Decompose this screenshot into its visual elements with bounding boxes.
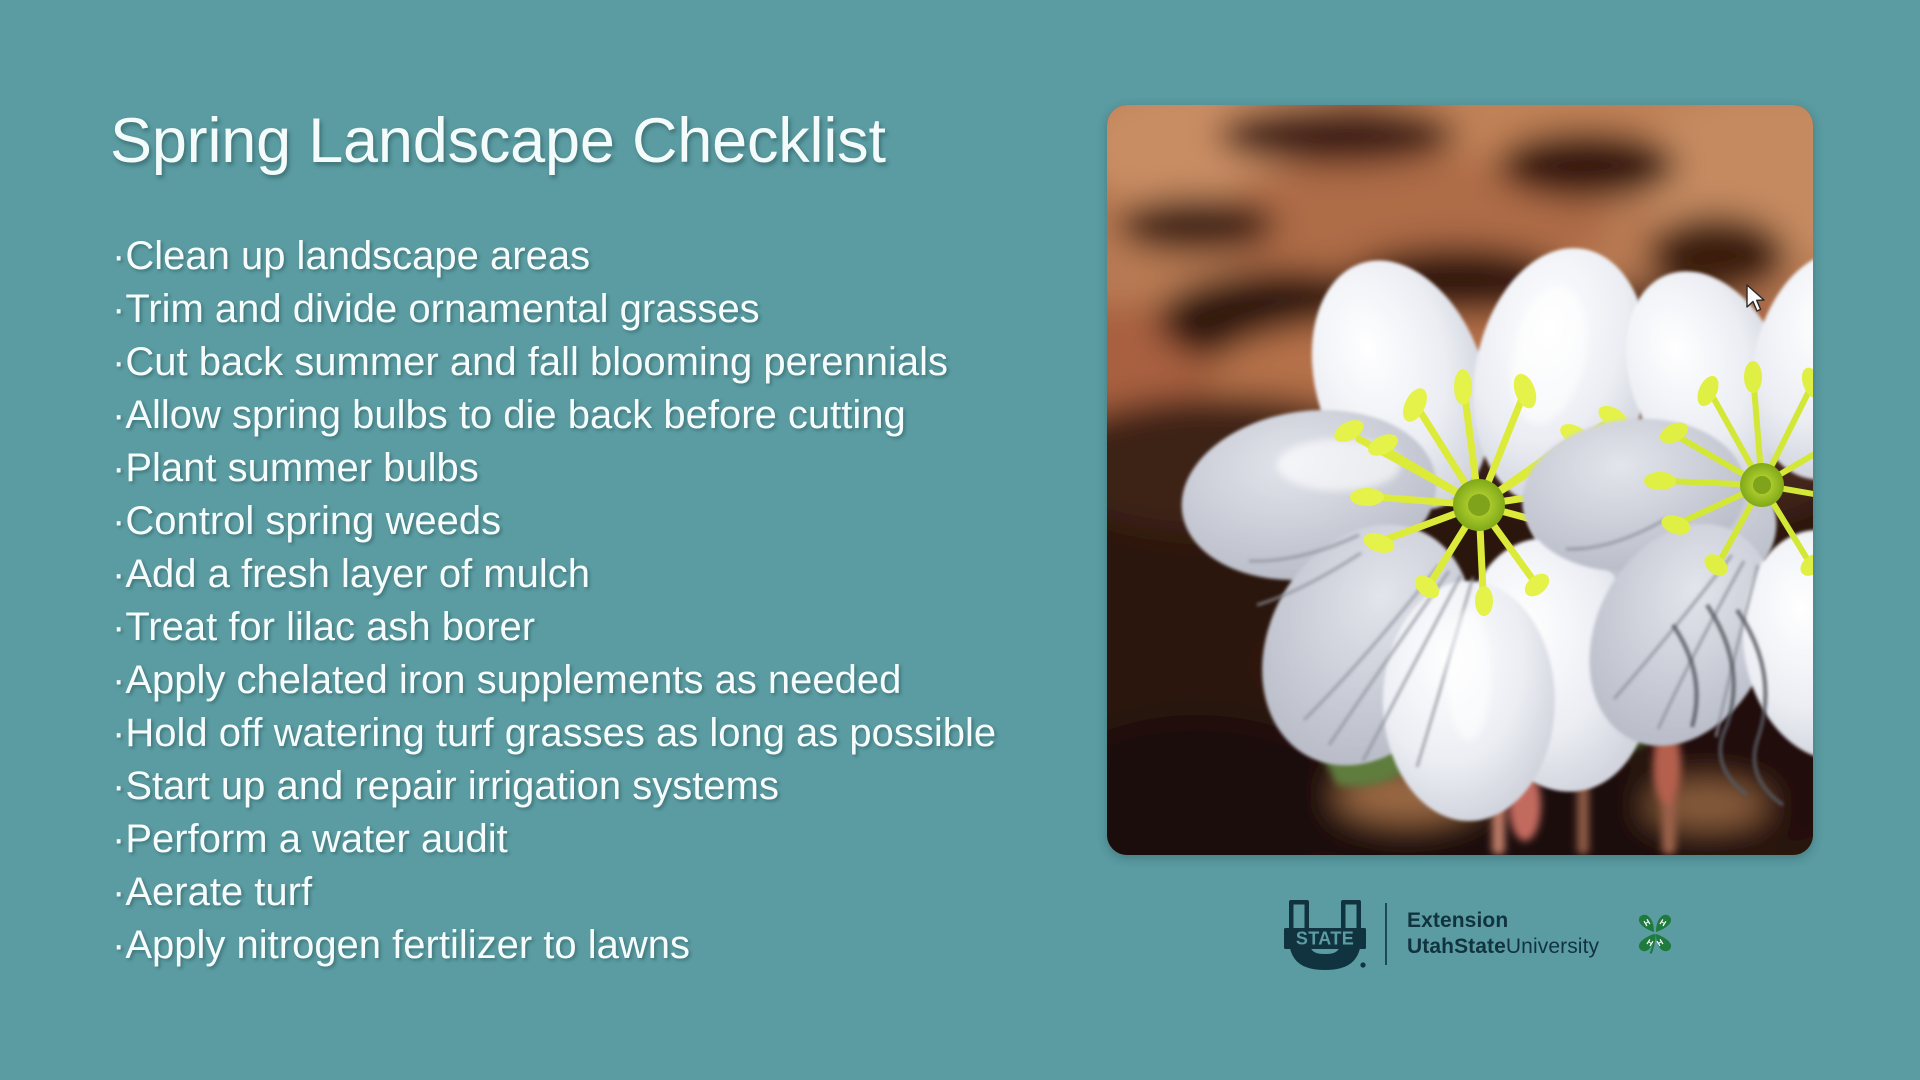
checklist-item-label: Treat for lilac ash borer [125, 605, 535, 649]
bullet-marker: · [112, 446, 125, 490]
checklist-item-label: Cut back summer and fall blooming perenn… [125, 340, 948, 384]
checklist-item: ·Aerate turf [112, 866, 1042, 919]
checklist-item: ·Control spring weeds [112, 495, 1042, 548]
svg-text:STATE: STATE [1296, 928, 1354, 948]
bullet-marker: · [112, 923, 125, 967]
page-title: Spring Landscape Checklist [110, 108, 886, 174]
bullet-marker: · [112, 393, 125, 437]
logo-utahstate-bold: UtahState [1407, 935, 1506, 958]
checklist-item-label: Clean up landscape areas [125, 234, 590, 278]
checklist-item: ·Hold off watering turf grasses as long … [112, 707, 1042, 760]
checklist-item-label: Perform a water audit [125, 817, 507, 861]
checklist-item: ·Plant summer bulbs [112, 442, 1042, 495]
bullet-marker: · [112, 658, 125, 702]
bullet-marker: · [112, 764, 125, 808]
checklist-item: ·Apply chelated iron supplements as need… [112, 654, 1042, 707]
checklist-item-label: Apply nitrogen fertilizer to lawns [125, 923, 690, 967]
logo-wordmark: Extension UtahStateUniversity [1407, 908, 1599, 959]
checklist-item-label: Aerate turf [125, 870, 312, 914]
presentation-slide: Spring Landscape Checklist ·Clean up lan… [0, 0, 1920, 1080]
checklist-item-label: Add a fresh layer of mulch [125, 552, 590, 596]
checklist-item-label: Plant summer bulbs [125, 446, 478, 490]
checklist-item: ·Apply nitrogen fertilizer to lawns [112, 919, 1042, 972]
checklist-item: ·Treat for lilac ash borer [112, 601, 1042, 654]
checklist-item: ·Allow spring bulbs to die back before c… [112, 389, 1042, 442]
bullet-marker: · [112, 340, 125, 384]
bullet-marker: · [112, 711, 125, 755]
checklist-item-label: Control spring weeds [125, 499, 501, 543]
bullet-marker: · [112, 287, 125, 331]
logo-extension-label: Extension [1407, 908, 1599, 934]
white-evening-primrose-flowers-photo [1107, 105, 1813, 855]
checklist-item: ·Trim and divide ornamental grasses [112, 283, 1042, 336]
checklist-item: ·Perform a water audit [112, 813, 1042, 866]
checklist-item-label: Allow spring bulbs to die back before cu… [125, 393, 905, 437]
checklist-item: ·Cut back summer and fall blooming peren… [112, 336, 1042, 389]
checklist-item-label: Start up and repair irrigation systems [125, 764, 779, 808]
bullet-marker: · [112, 817, 125, 861]
usu-u-state-mark: STATE [1283, 894, 1367, 974]
checklist-item-label: Apply chelated iron supplements as neede… [125, 658, 901, 702]
checklist-item-label: Hold off watering turf grasses as long a… [125, 711, 996, 755]
bullet-marker: · [112, 605, 125, 649]
logo-university-regular: University [1506, 935, 1599, 958]
spring-landscape-checklist: ·Clean up landscape areas·Trim and divid… [112, 230, 1042, 972]
logo-university-label: UtahStateUniversity [1407, 934, 1599, 960]
4h-clover-icon: H H H H [1633, 912, 1677, 956]
checklist-item: ·Clean up landscape areas [112, 230, 1042, 283]
logo-divider [1385, 903, 1387, 965]
usu-extension-logo: STATE Extension UtahStateUniversity H H … [1283, 892, 1677, 976]
bullet-marker: · [112, 870, 125, 914]
bullet-marker: · [112, 552, 125, 596]
bullet-marker: · [112, 234, 125, 278]
checklist-item: ·Start up and repair irrigation systems [112, 760, 1042, 813]
bullet-marker: · [112, 499, 125, 543]
checklist-item: ·Add a fresh layer of mulch [112, 548, 1042, 601]
checklist-item-label: Trim and divide ornamental grasses [125, 287, 759, 331]
